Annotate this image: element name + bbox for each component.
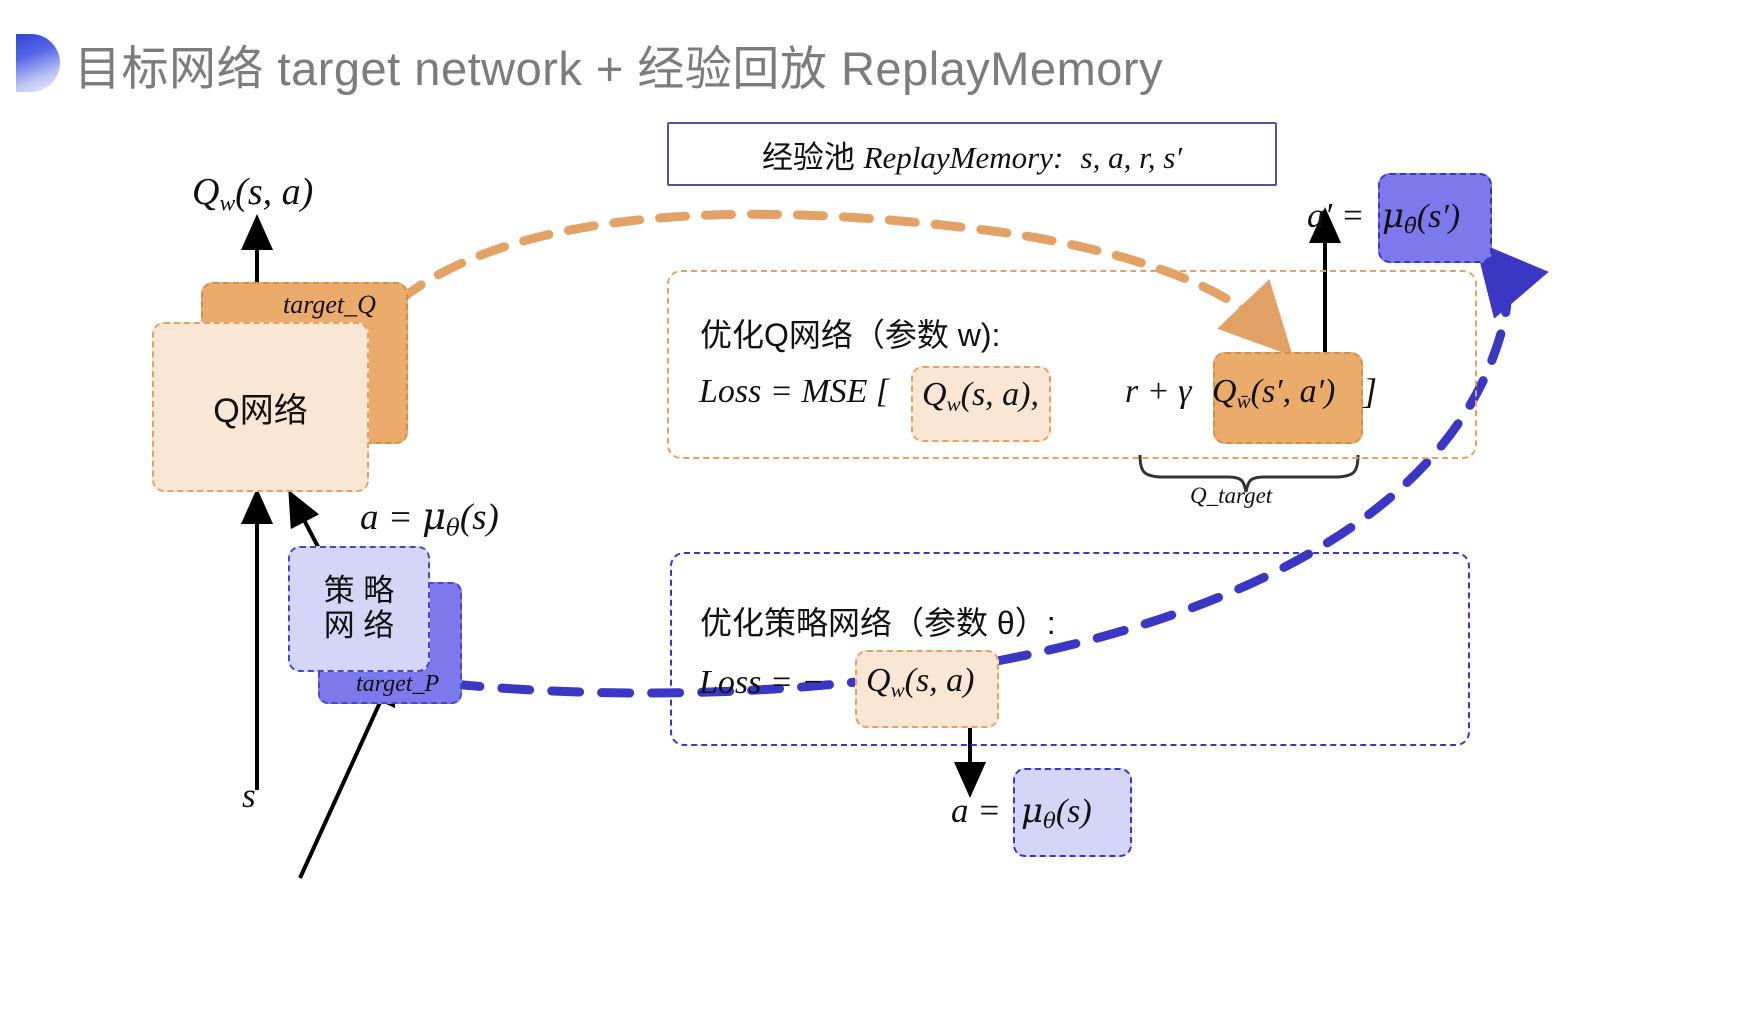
page-title: 目标网络 target network + 经验回放 ReplayMemory — [74, 30, 1163, 99]
action-equation-label: a = μθ(s) — [360, 495, 499, 541]
q-optimization-title: 优化Q网络（参数 w): — [700, 310, 1000, 356]
policy-network-label-line1: 策 略 — [324, 574, 395, 609]
q-pred-chip-text: Qw(s, a), — [922, 375, 1039, 417]
policy-loss-prefix: Loss = − — [699, 663, 824, 702]
q-output-label: Qw(s, a) — [192, 170, 313, 218]
q-loss-bracket-close: ] — [1363, 370, 1377, 412]
policy-optimization-panel — [670, 552, 1470, 746]
q-loss-prefix: Loss = MSE [ — [699, 372, 889, 411]
policy-network-label-line2: 网 络 — [324, 609, 395, 644]
bottom-action-box-text: μθ(s) — [1021, 791, 1092, 833]
slide-canvas: 目标网络 target network + 经验回放 ReplayMemory — [0, 0, 1746, 1036]
policy-optimization-title: 优化策略网络（参数 θ）: — [700, 598, 1056, 644]
target-q-label: target_Q — [283, 290, 376, 320]
arrow-state-to-policy — [300, 676, 392, 878]
next-action-box-text: μθ̄(s′) — [1382, 196, 1460, 238]
target-policy-label: target_P — [356, 671, 439, 698]
q-network-label: Q网络 — [213, 383, 307, 432]
q-target-chip-text: Qw̄(s′, a′) — [1212, 372, 1335, 414]
bottom-action-equation: a = — [951, 791, 1001, 831]
policy-network-box: 策 略 网 络 — [288, 546, 430, 672]
next-action-equation: a′ = — [1307, 196, 1365, 236]
state-input-label: s — [242, 776, 256, 816]
q-target-brace-label: Q_target — [1190, 483, 1272, 509]
q-target-prefix: r + γ — [1125, 372, 1192, 411]
replay-memory-text: 经验池 ReplayMemory: s, a, r, s′ — [762, 132, 1182, 177]
half-circle-bullet-icon — [16, 34, 60, 92]
replay-memory-box: 经验池 ReplayMemory: s, a, r, s′ — [667, 122, 1277, 186]
policy-loss-chip-text: Qw(s, a) — [866, 661, 975, 703]
q-network-box: Q网络 — [152, 322, 369, 492]
